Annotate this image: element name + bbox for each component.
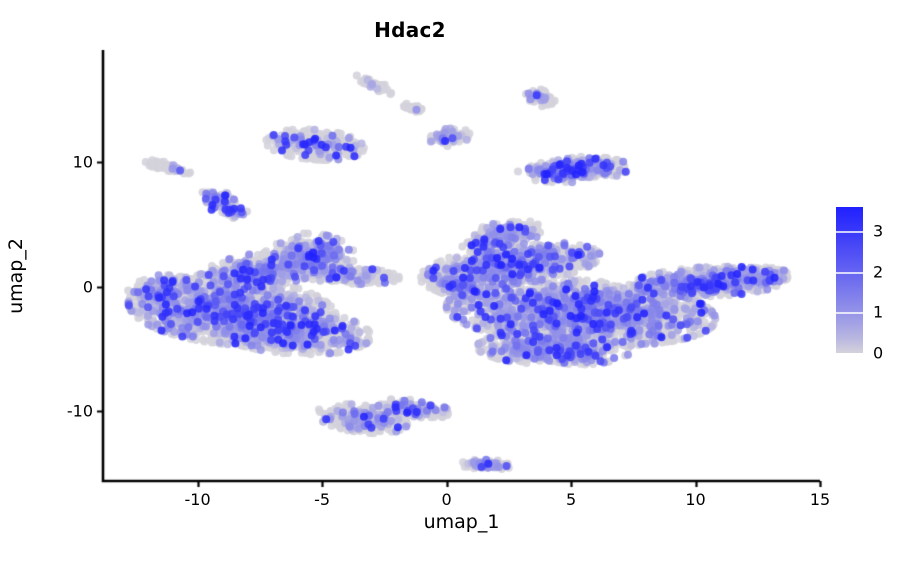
colorbar-tick-mark: [836, 312, 863, 314]
colorbar-tick-mark: [836, 231, 863, 233]
x-tick-label: 10: [685, 490, 705, 509]
page-title: Hdac2: [0, 18, 820, 42]
colorbar-tick-label: 3: [873, 222, 883, 241]
colorbar-tick-mark: [836, 353, 863, 355]
colorbar-tick-mark: [836, 272, 863, 274]
colorbar-tick-label: 2: [873, 262, 883, 281]
y-tick-label: 0: [41, 277, 93, 296]
x-tick-label: -10: [185, 490, 211, 509]
colorbar-legend: [836, 207, 863, 353]
x-axis-label: umap_1: [103, 511, 820, 533]
x-tick-label: 15: [810, 490, 830, 509]
x-tick-label: -5: [314, 490, 330, 509]
y-axis-label: umap_2: [5, 216, 27, 336]
y-tick-label: -10: [41, 402, 93, 421]
x-tick-label: 5: [566, 490, 576, 509]
colorbar-tick-label: 0: [873, 344, 883, 363]
x-tick-label: 0: [441, 490, 451, 509]
umap-scatter-canvas: [0, 0, 911, 562]
y-tick-label: 10: [41, 153, 93, 172]
figure-root: Hdac2 umap_1 umap_2 -10-5051015 -10010 0…: [0, 0, 911, 562]
colorbar-tick-label: 1: [873, 303, 883, 322]
